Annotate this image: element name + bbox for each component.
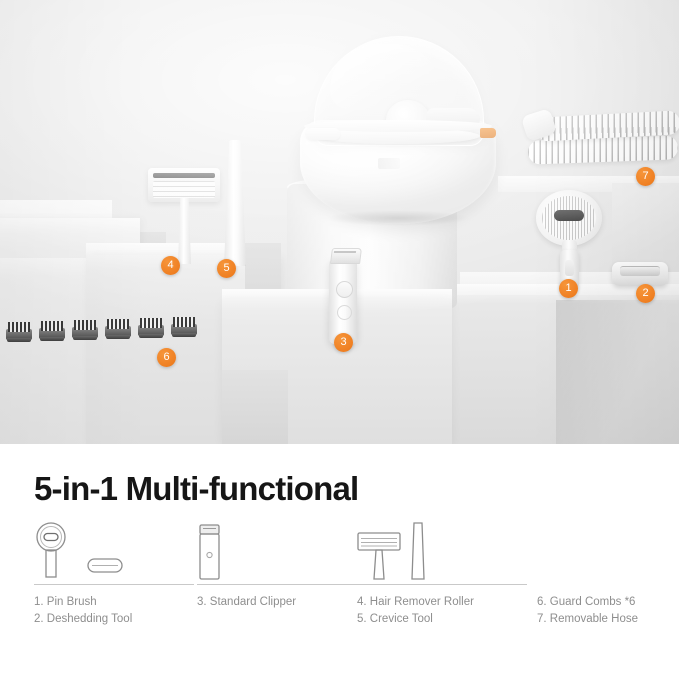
clipper-power-button bbox=[336, 281, 353, 298]
hero-badge-4: 4 bbox=[161, 256, 180, 275]
product-guard-combs bbox=[6, 316, 196, 344]
guard-comb bbox=[171, 317, 197, 337]
legend-column-2-captions: 3. Standard Clipper bbox=[197, 594, 357, 611]
legend-rule-1 bbox=[34, 584, 194, 585]
legend-caption-1: 1. Pin Brush bbox=[34, 594, 194, 611]
clipper-body bbox=[329, 259, 357, 344]
pedestal-center-notch bbox=[222, 370, 288, 444]
guard-comb-teeth bbox=[41, 321, 63, 331]
roller-dark-bar bbox=[153, 173, 215, 178]
hero-badge-7: 7 bbox=[636, 167, 655, 186]
legend-caption-2: 2. Deshedding Tool bbox=[34, 611, 194, 628]
guard-comb bbox=[105, 319, 131, 339]
product-pin-brush bbox=[536, 190, 602, 288]
guard-comb-teeth bbox=[140, 318, 162, 328]
hero-badge-5: 5 bbox=[217, 259, 236, 278]
legend-caption-3: 3. Standard Clipper bbox=[197, 594, 357, 611]
hero-badge-6: 6 bbox=[157, 348, 176, 367]
legend-panel: 5-in-1 Multi-functional bbox=[0, 444, 679, 679]
vacuum-base-unit bbox=[300, 36, 496, 188]
clipper-mode-dial bbox=[337, 305, 352, 320]
vacuum-drop-shadow bbox=[326, 210, 470, 226]
hero-badge-1: 1 bbox=[559, 279, 578, 298]
hero-badge-2: 2 bbox=[636, 284, 655, 303]
product-hair-remover-roller bbox=[148, 168, 220, 264]
legend-column-3-captions: 4. Hair Remover Roller 5. Crevice Tool bbox=[357, 594, 527, 628]
legend-rule-3 bbox=[357, 584, 527, 585]
legend-rule-2 bbox=[197, 584, 357, 585]
legend-column-4-icons bbox=[537, 522, 677, 582]
guard-comb-base bbox=[106, 335, 130, 339]
pin-brush-slot bbox=[554, 210, 584, 221]
legend-column-2-icons bbox=[197, 522, 357, 582]
guard-comb bbox=[138, 318, 164, 338]
legend-column-1-icons bbox=[34, 522, 194, 582]
legend-column-2: 3. Standard Clipper bbox=[197, 522, 357, 611]
guard-comb-teeth bbox=[173, 317, 195, 327]
legend-column-4-captions: 6. Guard Combs *6 7. Removable Hose bbox=[537, 594, 677, 628]
guard-comb-base bbox=[40, 337, 64, 341]
standard-clipper-icon bbox=[197, 524, 223, 580]
guard-comb-teeth bbox=[8, 322, 30, 332]
dome-highlight bbox=[330, 44, 440, 110]
roller-grid bbox=[153, 181, 215, 198]
guard-comb-teeth bbox=[107, 319, 129, 329]
hero-badge-3: 3 bbox=[334, 333, 353, 352]
guard-comb-base bbox=[172, 333, 196, 337]
legend-caption-5: 5. Crevice Tool bbox=[357, 611, 527, 628]
legend-caption-4: 4. Hair Remover Roller bbox=[357, 594, 527, 611]
deshedding-tool-icon bbox=[87, 555, 123, 575]
guard-comb bbox=[39, 321, 65, 341]
legend-column-3: 4. Hair Remover Roller 5. Crevice Tool bbox=[357, 522, 527, 628]
legend-column-3-icons bbox=[357, 522, 527, 582]
guard-comb bbox=[6, 322, 32, 342]
page-title: 5-in-1 Multi-functional bbox=[34, 470, 358, 508]
vacuum-latch bbox=[306, 128, 340, 140]
product-crevice-tool bbox=[224, 140, 246, 266]
guard-comb-base bbox=[139, 334, 163, 338]
vacuum-orange-release-tab bbox=[480, 128, 496, 138]
product-image-page: 1 2 3 4 5 6 7 5-in-1 Multi-functional bbox=[0, 0, 679, 679]
legend-columns: 1. Pin Brush 2. Deshedding Tool bbox=[0, 522, 679, 632]
crevice-nozzle bbox=[224, 140, 246, 266]
legend-caption-6: 6. Guard Combs *6 bbox=[537, 594, 677, 611]
guard-comb-teeth bbox=[74, 320, 96, 330]
crevice-tool-icon bbox=[409, 522, 427, 580]
roller-handle bbox=[178, 198, 191, 264]
vacuum-logo bbox=[378, 158, 400, 169]
product-deshedding-tool bbox=[612, 258, 668, 288]
guard-comb-base bbox=[7, 338, 31, 342]
legend-column-1: 1. Pin Brush 2. Deshedding Tool bbox=[34, 522, 194, 628]
legend-column-4: 6. Guard Combs *6 7. Removable Hose bbox=[537, 522, 677, 628]
clipper-blade-edge bbox=[334, 251, 356, 253]
legend-caption-7: 7. Removable Hose bbox=[537, 611, 677, 628]
pin-brush-icon bbox=[34, 522, 78, 580]
legend-column-1-captions: 1. Pin Brush 2. Deshedding Tool bbox=[34, 594, 194, 628]
guard-comb bbox=[72, 320, 98, 340]
hero-product-photo: 1 2 3 4 5 6 7 bbox=[0, 0, 679, 444]
hair-remover-roller-icon bbox=[357, 532, 401, 580]
legend-rule-4 bbox=[537, 584, 677, 585]
product-standard-clipper bbox=[329, 248, 359, 344]
pin-brush-button bbox=[565, 260, 574, 276]
pedestal-right-shadow bbox=[556, 300, 679, 444]
guard-comb-base bbox=[73, 336, 97, 340]
product-removable-hose bbox=[524, 112, 679, 178]
deshedding-blade bbox=[620, 266, 660, 276]
